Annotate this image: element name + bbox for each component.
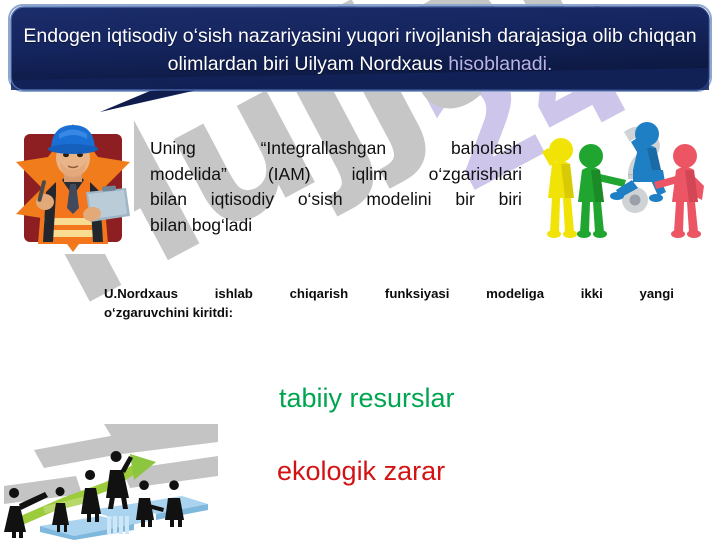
keyword-ecological-damage: ekologik zarar <box>277 455 445 487</box>
title-line-1: Endogen iqtisodiy o‘sish nazariyasini yu… <box>23 25 622 47</box>
body-line-4: bilan bog‘ladi <box>150 213 522 239</box>
engineer-photo <box>12 122 134 254</box>
keyword-natural-resources: tabiiy resurslar <box>279 382 455 414</box>
title-speech-bubble: Endogen iqtisodiy o‘sish nazariyasini yu… <box>0 0 720 130</box>
business-chart-illustration <box>4 424 218 540</box>
body-paragraph: Uning“Integrallashganbaholash modelida”(… <box>150 136 522 238</box>
colored-figures-illustration <box>528 112 714 248</box>
title-text: Endogen iqtisodiy o‘sish nazariyasini yu… <box>22 22 698 78</box>
body-line-3: bilaniqtisodiyo‘sishmodelinibirbiri <box>150 187 522 213</box>
body-line-2: modelida”(IAM)iqlimo‘zgarishlari <box>150 162 522 188</box>
title-line-2-highlight: hisoblanadi. <box>448 53 552 75</box>
bold-line-2: o‘zgaruvchini kiritdi: <box>104 303 674 322</box>
bold-paragraph: U.Nordxausishlabchiqarishfunksiyasimodel… <box>104 284 674 322</box>
body-line-1: Uning“Integrallashganbaholash <box>150 136 522 162</box>
bold-line-1: U.Nordxausishlabchiqarishfunksiyasimodel… <box>104 284 674 303</box>
slide-canvas: 24 Hujjat <box>0 0 720 540</box>
